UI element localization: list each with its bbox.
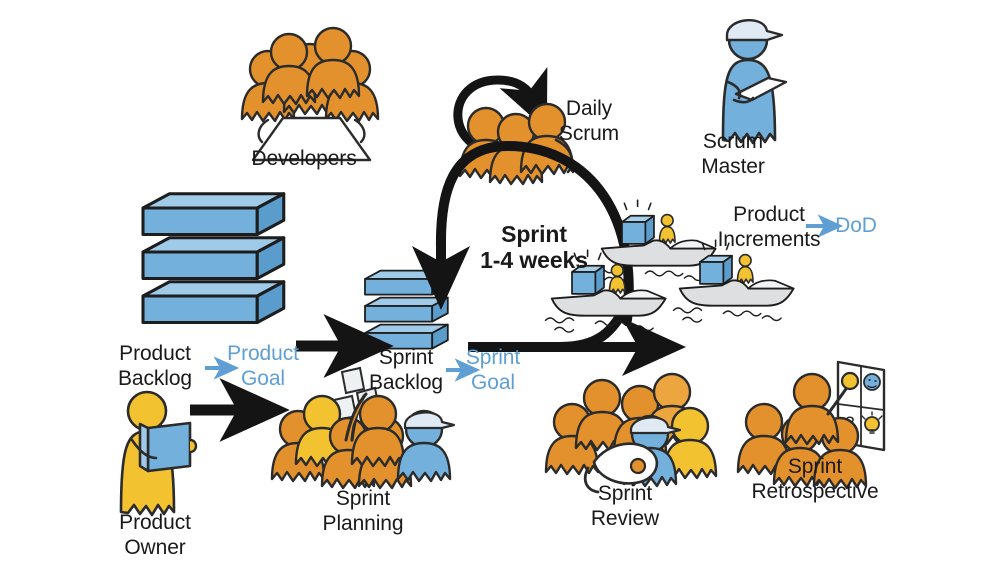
sprint-retrospective-label-line1: Sprint — [788, 454, 842, 479]
product-owner-label-line1: Product — [119, 510, 191, 535]
scrum-master-label-line2: Master — [701, 154, 765, 179]
scrum-master-label-line1: Scrum — [703, 129, 763, 154]
sprint-planning-label-line1: Sprint — [336, 486, 390, 511]
product-goal-label-line2: Goal — [241, 366, 285, 391]
daily-scrum-label-line2: Scrum — [559, 121, 619, 146]
daily-scrum-label-line1: Daily — [566, 96, 612, 121]
sprint-goal-label-line1: Sprint — [466, 345, 520, 370]
sprint-goal-label-line2: Goal — [471, 370, 515, 395]
product-increments-label-line1: Product — [733, 202, 805, 227]
sprint-review-group-icon — [546, 374, 716, 492]
developers-label: Developers — [251, 146, 356, 171]
product-backlog-label-line2: Backlog — [118, 366, 192, 391]
sprint-review-label-line2: Review — [591, 506, 659, 531]
product-increments-label-line2: Increments — [718, 227, 821, 252]
sprint-duration-label-line1: Sprint — [501, 222, 567, 247]
product-backlog-label-line1: Product — [119, 341, 191, 366]
sprint-planning-label-line2: Planning — [323, 511, 404, 536]
product-backlog-stack-icon — [143, 194, 284, 323]
scrum-master-person-icon — [723, 20, 786, 143]
product-owner-label-line2: Owner — [124, 535, 185, 560]
scrum-framework-diagram: ? Developers Daily Scrum Scrum Master Pr… — [0, 0, 1000, 563]
sprint-review-label-line1: Sprint — [598, 481, 652, 506]
sprint-backlog-stack-icon — [365, 271, 448, 349]
product-owner-person-icon — [121, 392, 196, 515]
product-goal-label-line1: Product — [227, 341, 299, 366]
developers-group-icon — [242, 28, 378, 160]
sprint-retrospective-label-line2: Retrospective — [751, 479, 878, 504]
sprint-backlog-label-line1: Sprint — [379, 345, 433, 370]
dod-label: DoD — [835, 213, 877, 238]
sprint-duration-label-line2: 1-4 weeks — [480, 248, 588, 273]
sprint-backlog-label-line2: Backlog — [369, 370, 443, 395]
